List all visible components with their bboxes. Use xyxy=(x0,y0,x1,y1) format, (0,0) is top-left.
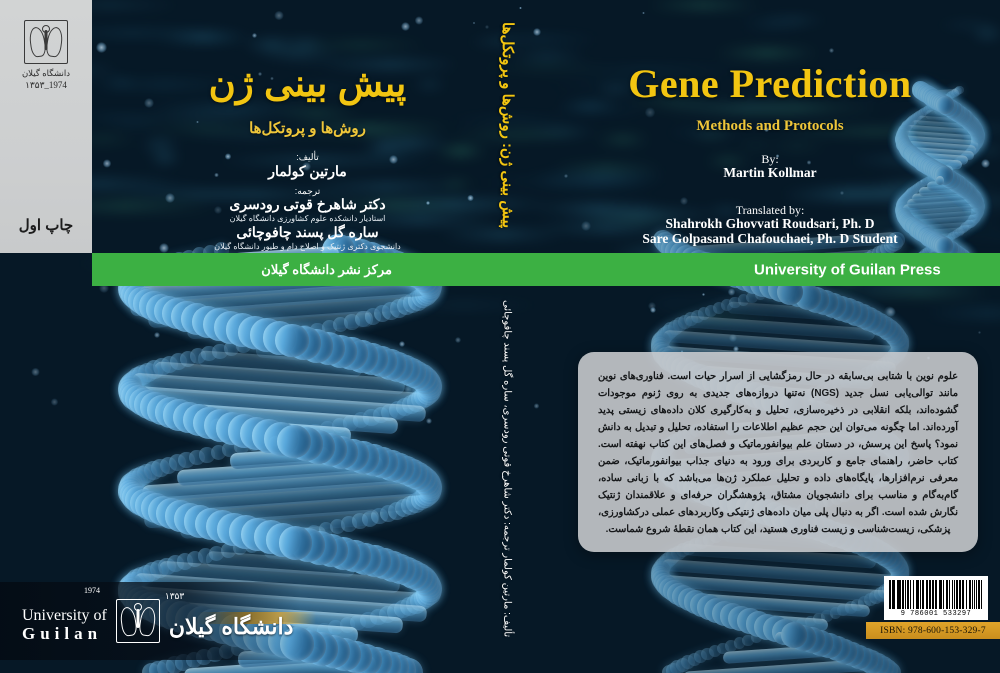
publisher-name-en: University of Guilan Press xyxy=(754,261,941,278)
seal-dot xyxy=(42,25,50,33)
isbn-bar: ISBN: 978-600-153-329-7 xyxy=(866,622,1000,639)
blurb-paragraph: علوم نوین با شتابی بی‌سابقه در حال رمزگش… xyxy=(598,368,958,538)
front-cover-persian: پیش بینی ژن روش‌ها و پروتکل‌ها تألیف: ما… xyxy=(130,0,485,253)
university-seal: دانشگاه گیلان ۱۳۵۳_1974 xyxy=(18,20,74,91)
author-name-fa: مارتین کولمار xyxy=(130,163,485,180)
front-title-fa: پیش بینی ژن xyxy=(130,62,485,105)
back-cover-blurb: علوم نوین با شتابی بی‌سابقه در حال رمزگش… xyxy=(578,352,978,552)
spine-title-fa: پیش بینی ژن: روش‌ها و پروتکل‌ها xyxy=(498,22,516,228)
university-logo-fa: دانشگاه گیلان xyxy=(169,614,294,640)
translator1-name-fa: دکتر شاهرخ قوتی رودسری xyxy=(130,196,485,213)
book-cover: دانشگاه گیلان ۱۳۵۳_1974 چاپ اول پیش بینی… xyxy=(0,0,1000,673)
translator2-name-fa: ساره گل پسند چافوچائی xyxy=(130,224,485,241)
front-title-en: Gene Prediction xyxy=(540,60,1000,107)
translator1-affiliation-fa: استادیار دانشکده علوم کشاورزی دانشگاه گی… xyxy=(130,214,485,223)
author-name-en: Martin Kollmar xyxy=(540,165,1000,181)
barcode-bars xyxy=(889,580,983,609)
publisher-name-fa: مرکز نشر دانشگاه گیلان xyxy=(261,262,392,278)
barcode: 9 786001 533297 xyxy=(884,576,988,620)
left-flap: دانشگاه گیلان ۱۳۵۳_1974 چاپ اول xyxy=(0,0,92,253)
university-mark-icon xyxy=(116,599,160,643)
university-year-fa: ۱۳۵۳ xyxy=(165,591,290,602)
front-cover-english: Gene Prediction Methods and Protocols By… xyxy=(540,0,1000,253)
front-subtitle-en: Methods and Protocols xyxy=(540,118,1000,135)
translator2-name-en: Sare Golpasand Chafouchaei, Ph. D Studen… xyxy=(540,231,1000,247)
seal-years: ۱۳۵۳_1974 xyxy=(18,80,74,91)
mark-dot xyxy=(134,603,142,611)
university-logo: 1974 University of Guilan ۱۳۵۳ دانشگاه گ… xyxy=(0,582,300,660)
spine: پیش بینی ژن: روش‌ها و پروتکل‌ها تألیف: م… xyxy=(487,0,527,673)
front-subtitle-fa: روش‌ها و پروتکل‌ها xyxy=(130,119,485,137)
author-label-fa: تألیف: xyxy=(130,152,485,163)
university-logo-line2: Guilan xyxy=(22,625,107,643)
university-logo-en: 1974 University of Guilan xyxy=(22,599,107,642)
translator1-name-en: Shahrokh Ghovvati Roudsari, Ph. D xyxy=(540,216,1000,232)
seal-name-fa: دانشگاه گیلان xyxy=(18,68,74,79)
barcode-digits: 9 786001 533297 xyxy=(889,610,983,618)
university-seal-icon xyxy=(24,20,68,64)
university-year-en: 1974 xyxy=(84,587,169,595)
publisher-band: مرکز نشر دانشگاه گیلان University of Gui… xyxy=(92,253,1000,286)
seal-stem xyxy=(45,30,48,50)
edition-label: چاپ اول xyxy=(0,216,92,234)
translator2-affiliation-fa: دانشجوی دکتری ژنتیک و اصلاح دام و طیور د… xyxy=(130,242,485,251)
university-logo-line1: University of xyxy=(22,608,107,625)
mark-stem xyxy=(136,609,139,628)
spine-credits-fa: تألیف: مارتین کولمار ترجمه: دکتر شاهرخ ق… xyxy=(502,300,513,637)
